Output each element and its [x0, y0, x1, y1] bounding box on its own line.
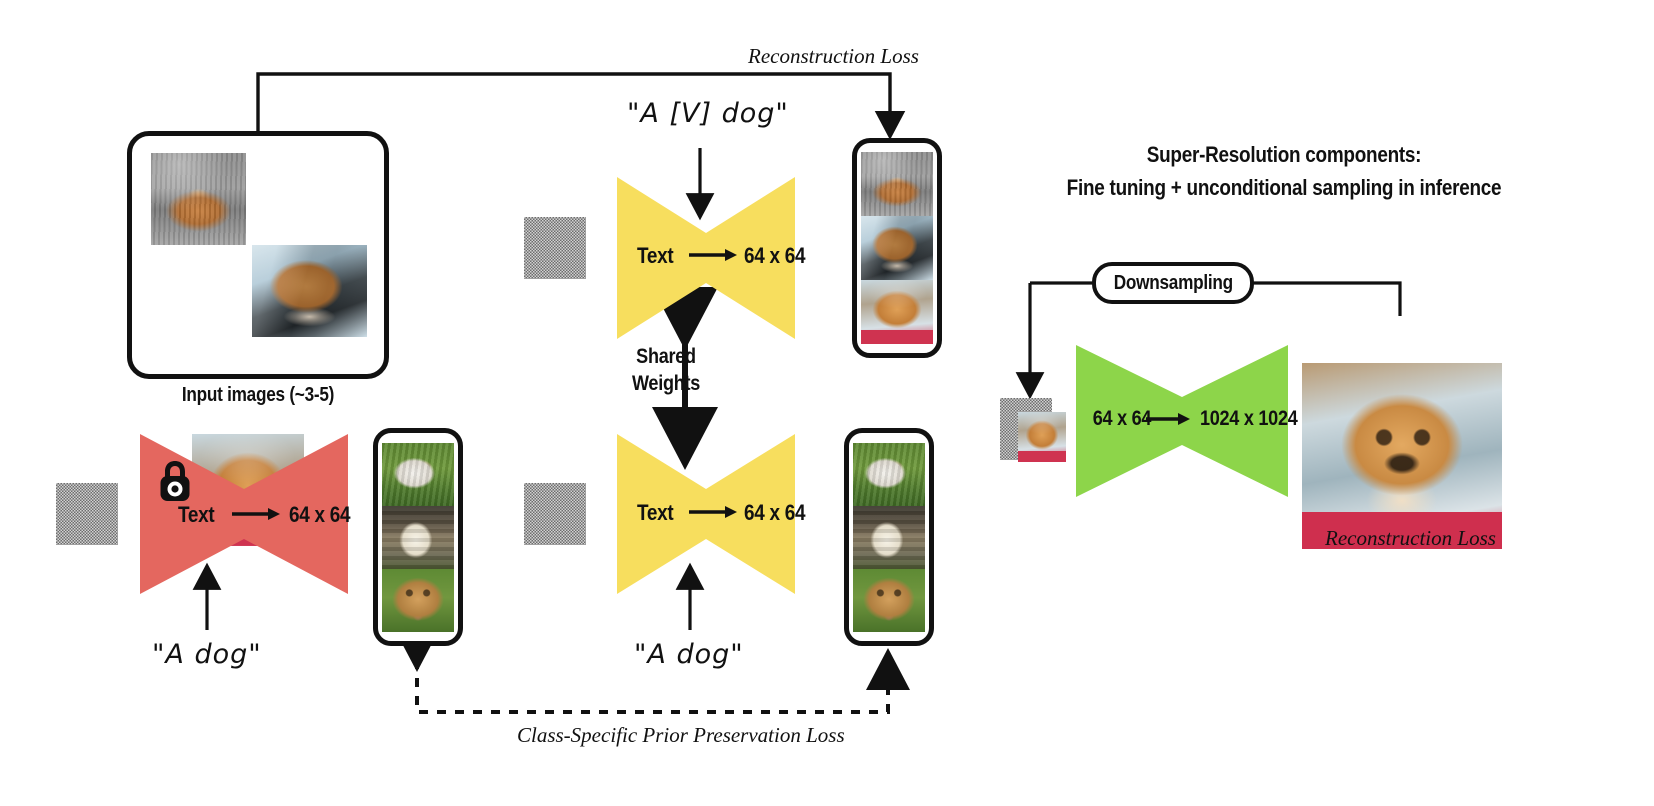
class-prior-right-photo-2 [853, 506, 925, 569]
superres-unet[interactable]: 64 x 64 1024 x 1024 [1076, 345, 1288, 497]
generated-subject-strip[interactable] [852, 138, 942, 358]
class-prior-right-photo-3 [853, 569, 925, 632]
superres-unet-input-label: 64 x 64 [1093, 407, 1151, 431]
class-prior-loss-label: Class-Specific Prior Preservation Loss [517, 723, 845, 748]
input-photo-1 [151, 153, 246, 245]
reconstruction-loss-label-top: Reconstruction Loss [748, 44, 919, 69]
superres-title-line2: Fine tuning + unconditional sampling in … [1026, 175, 1542, 201]
generated-photo-3 [861, 280, 933, 344]
noise-input-frozen [56, 483, 118, 545]
frozen-unet-output-label: 64 x 64 [289, 502, 350, 528]
prompt-a-dog-left-label: "A dog" [152, 639, 262, 670]
generated-photo-2 [861, 216, 933, 280]
input-images-caption: Input images (~3-5) [163, 384, 354, 407]
reconstruction-loss-connector [258, 74, 890, 136]
finetune-unet-bottom[interactable]: Text 64 x 64 [617, 434, 795, 594]
shared-weights-label-line1: Shared [620, 344, 713, 370]
finetune-unet-top[interactable]: Text 64 x 64 [617, 177, 795, 339]
prompt-a-dog-right-label: "A dog" [634, 639, 744, 670]
reconstruction-loss-label-right: Reconstruction Loss [1325, 526, 1496, 551]
noise-input-top-finetune [524, 217, 586, 279]
finetune-unet-bottom-output-label: 64 x 64 [744, 500, 805, 526]
shared-weights-label-line2: Weights [620, 371, 713, 397]
downsampling-label: Downsampling [1113, 272, 1232, 295]
class-prior-strip-right[interactable] [844, 428, 934, 646]
finetune-unet-bottom-text-label: Text [637, 500, 673, 526]
prompt-v-dog-label: "A [V] dog" [627, 98, 789, 129]
finetune-unet-top-output-label: 64 x 64 [744, 243, 805, 269]
class-prior-left-photo-2 [382, 506, 454, 569]
superres-input-thumbnail [1018, 412, 1066, 462]
finetune-unet-top-text-label: Text [637, 243, 673, 269]
generated-photo-1 [861, 152, 933, 216]
frozen-unet[interactable]: Text 64 x 64 [140, 434, 348, 594]
diagram-canvas: Reconstruction Loss "A [V] dog" Input im… [0, 0, 1654, 806]
finetune-unet-bottom-arrow-icon [689, 504, 739, 520]
superres-unet-output-label: 1024 x 1024 [1200, 407, 1298, 431]
frozen-unet-arrow-icon [232, 506, 282, 522]
class-prior-strip-left[interactable] [373, 428, 463, 646]
class-prior-right-photo-1 [853, 443, 925, 506]
input-photo-2 [252, 245, 367, 337]
finetune-unet-top-arrow-icon [689, 247, 739, 263]
downsampling-pill[interactable]: Downsampling [1092, 262, 1254, 304]
lock-icon [158, 458, 192, 504]
frozen-unet-text-label: Text [178, 502, 214, 528]
class-prior-left-photo-3 [382, 569, 454, 632]
class-prior-left-photo-1 [382, 443, 454, 506]
noise-input-bottom-finetune [524, 483, 586, 545]
superres-title-line1: Super-Resolution components: [1052, 142, 1516, 168]
hero-output-image [1302, 363, 1502, 549]
input-images-box[interactable] [127, 131, 389, 379]
superres-unet-arrow-icon [1146, 411, 1192, 427]
